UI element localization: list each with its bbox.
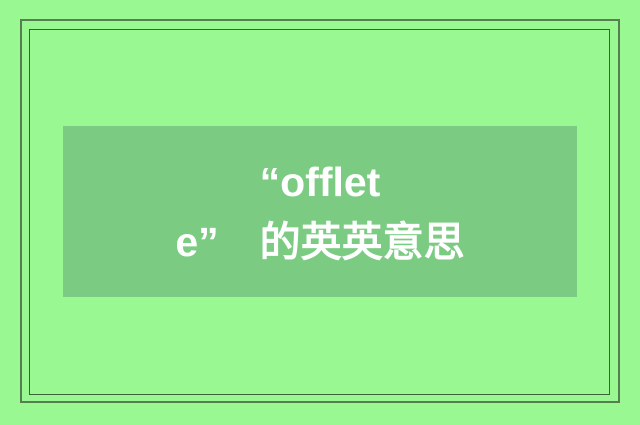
page-title: “offlet e” 的英英意思 <box>63 152 577 272</box>
title-banner: “offlet e” 的英英意思 <box>63 126 577 297</box>
title-card: “offlet e” 的英英意思 <box>0 0 640 425</box>
